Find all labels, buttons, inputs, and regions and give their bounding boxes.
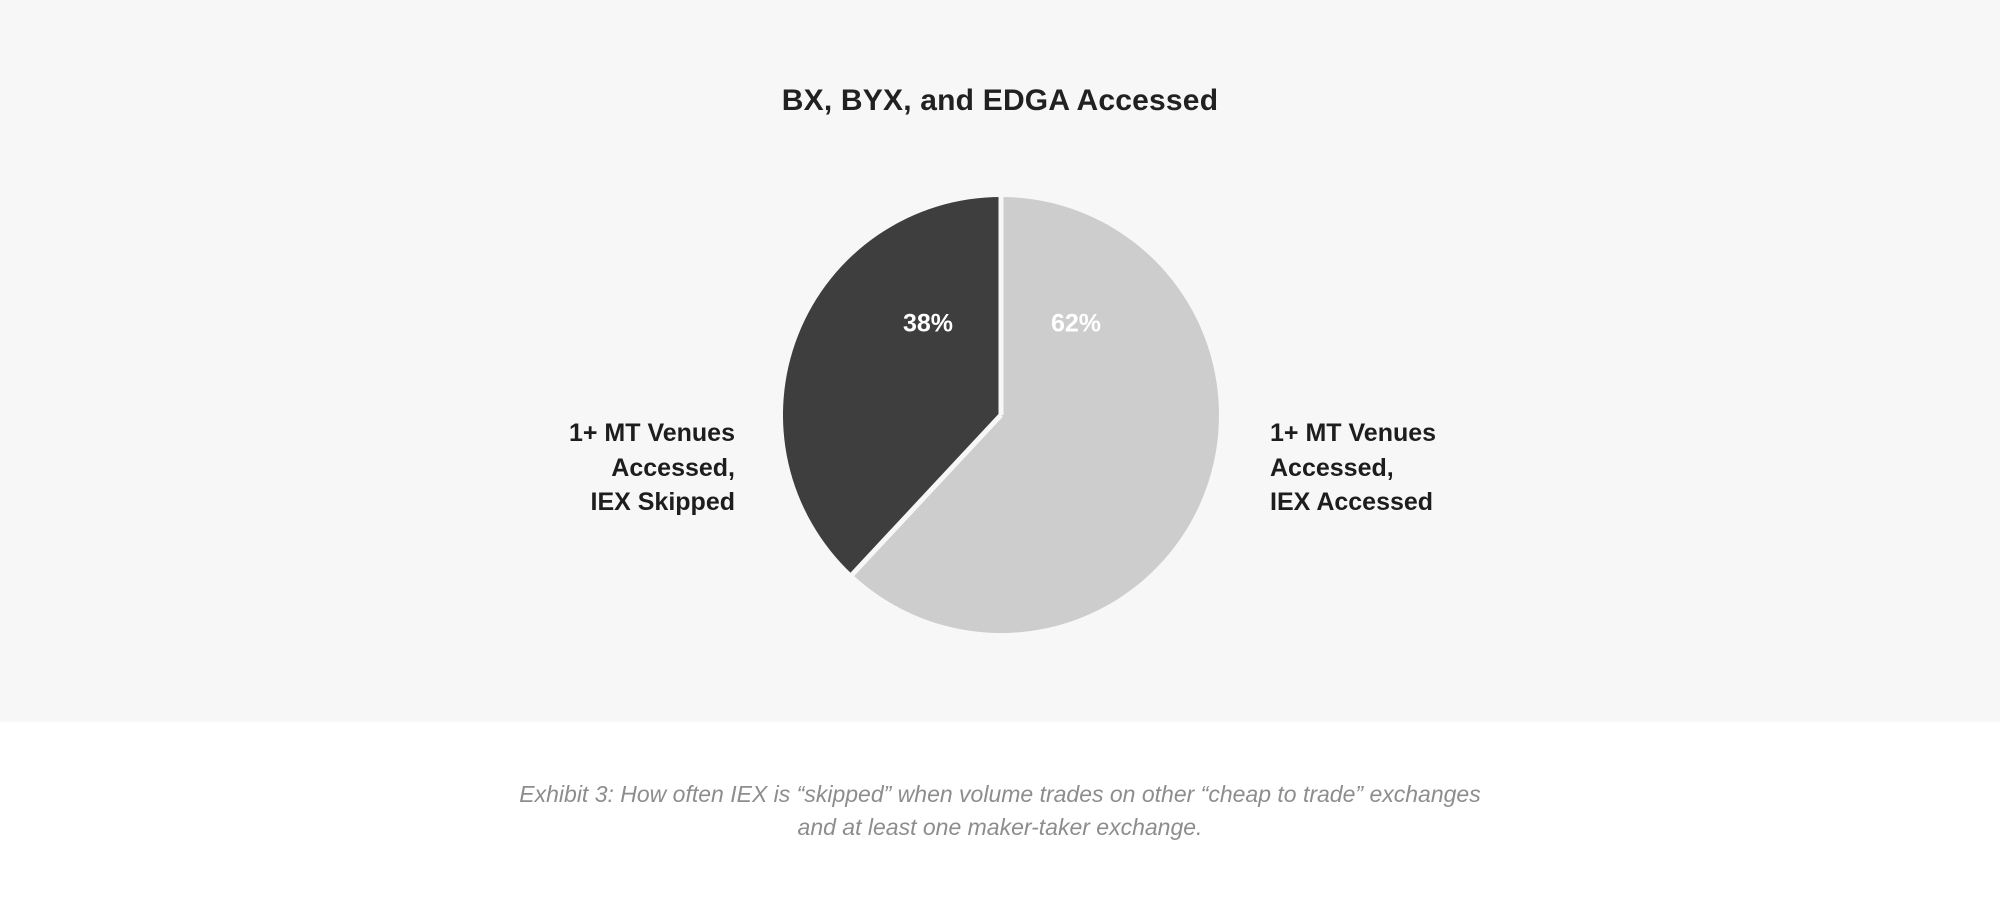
pie-chart: 38% 62% <box>783 197 1219 633</box>
pie-callout-label-right: 1+ MT Venues Accessed, IEX Accessed <box>1270 416 1436 520</box>
figure-caption: Exhibit 3: How often IEX is “skipped” wh… <box>0 778 2000 845</box>
figure-container: BX, BYX, and EDGA Accessed 38% 62% 1+ MT… <box>0 0 2000 902</box>
pie-callout-label-left: 1+ MT Venues Accessed, IEX Skipped <box>569 416 735 520</box>
chart-panel: BX, BYX, and EDGA Accessed 38% 62% 1+ MT… <box>0 0 2000 722</box>
pie-value-label-light: 62% <box>1051 310 1101 338</box>
pie-value-label-dark: 38% <box>903 310 953 338</box>
chart-title: BX, BYX, and EDGA Accessed <box>0 84 2000 118</box>
figure-caption-text: Exhibit 3: How often IEX is “skipped” wh… <box>500 778 1500 845</box>
pie-svg: 38% 62% <box>783 197 1219 633</box>
